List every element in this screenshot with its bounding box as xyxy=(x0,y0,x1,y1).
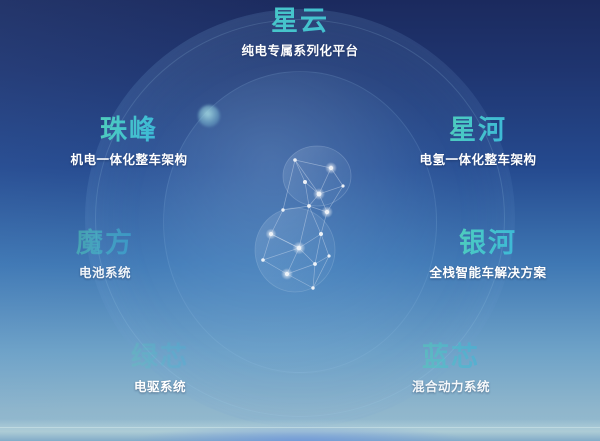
label-lvxin-subtitle: 电驱系统 xyxy=(96,376,224,395)
label-zhufeng[interactable]: 珠峰 机电一体化整车架构 xyxy=(44,115,214,168)
label-lvxin-title: 绿芯 xyxy=(96,342,224,372)
label-yinhe[interactable]: 银河 全栈智能车解决方案 xyxy=(398,228,578,281)
label-xinghe[interactable]: 星河 电氢一体化整车架构 xyxy=(390,115,566,168)
label-lvxin[interactable]: 绿芯 电驱系统 xyxy=(96,342,224,395)
label-yinhe-title: 银河 xyxy=(398,228,578,258)
label-lanxin-subtitle: 混合动力系统 xyxy=(376,376,526,395)
horizon-strip xyxy=(0,419,600,441)
label-mofang-title: 魔方 xyxy=(40,228,170,258)
label-xingyun[interactable]: 星云 纯电专属系列化平台 xyxy=(0,6,600,59)
label-zhufeng-title: 珠峰 xyxy=(44,115,214,145)
label-mofang[interactable]: 魔方 电池系统 xyxy=(40,228,170,281)
label-mofang-subtitle: 电池系统 xyxy=(40,262,170,281)
scene-root: 星云 纯电专属系列化平台 珠峰 机电一体化整车架构 星河 电氢一体化整车架构 魔… xyxy=(0,0,600,441)
label-xinghe-title: 星河 xyxy=(390,115,566,145)
network-constellation-graphic xyxy=(243,138,363,298)
label-lanxin-title: 蓝芯 xyxy=(376,342,526,372)
label-xingyun-subtitle: 纯电专属系列化平台 xyxy=(0,40,600,59)
label-zhufeng-subtitle: 机电一体化整车架构 xyxy=(44,149,214,168)
label-xinghe-subtitle: 电氢一体化整车架构 xyxy=(390,149,566,168)
label-yinhe-subtitle: 全栈智能车解决方案 xyxy=(398,262,578,281)
label-xingyun-title: 星云 xyxy=(0,6,600,36)
horizon-line xyxy=(0,427,600,428)
label-lanxin[interactable]: 蓝芯 混合动力系统 xyxy=(376,342,526,395)
